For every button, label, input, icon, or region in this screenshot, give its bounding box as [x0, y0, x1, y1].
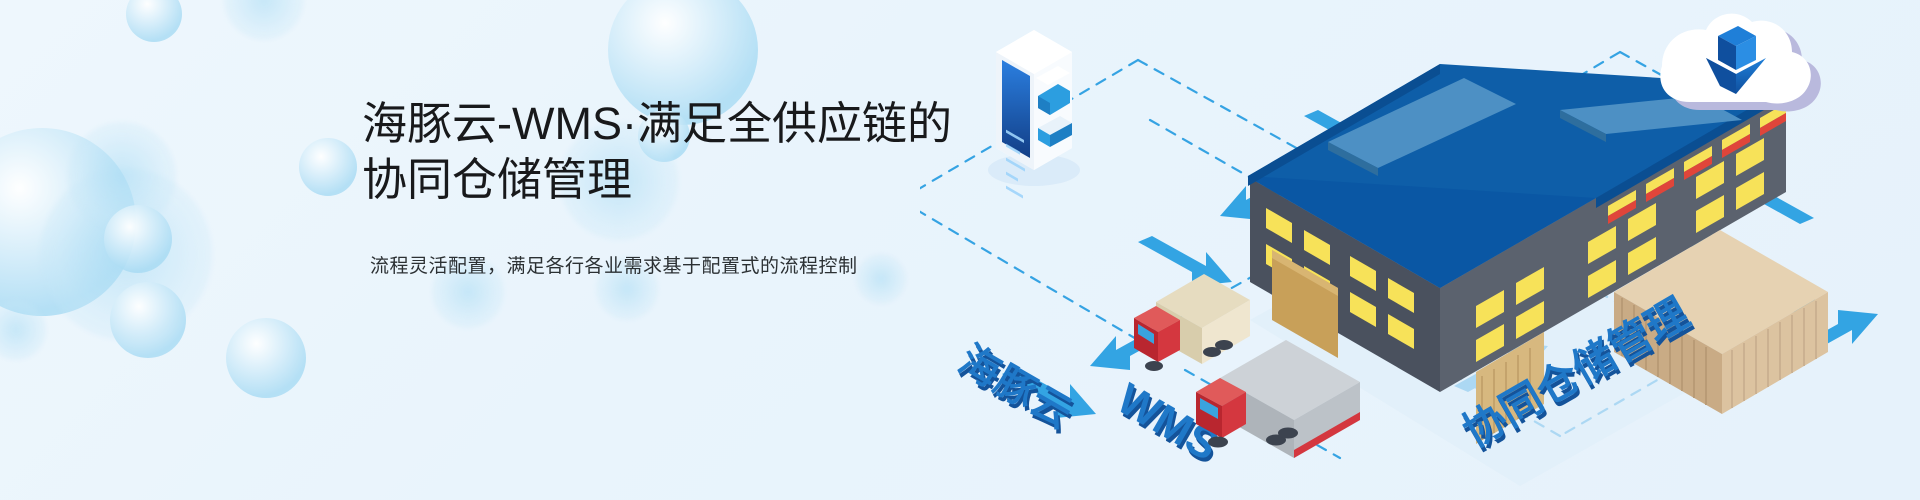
bubble: [104, 205, 172, 273]
arrow-icon: [1138, 236, 1232, 286]
bubble: [0, 300, 46, 360]
cloud-download-icon: [1660, 14, 1821, 112]
bubble: [126, 0, 182, 42]
bubble: [110, 282, 186, 358]
bubble: [226, 318, 306, 398]
bubble: [0, 128, 136, 316]
bubble: [224, 0, 304, 40]
warehouse-illustration: 海豚云 海豚云 WMS WMS: [920, 0, 1920, 500]
hero-banner: 海豚云-WMS·满足全供应链的 协同仓储管理 流程灵活配置，满足各行各业需求基于…: [0, 0, 1920, 500]
bubble: [68, 122, 176, 230]
bubble: [299, 138, 357, 196]
page-title-line-1: 海豚云-WMS·满足全供应链的: [362, 98, 952, 149]
label-left-3d: 海豚云 海豚云 WMS WMS: [952, 338, 1229, 475]
bubble: [40, 168, 212, 340]
server-rack: [988, 30, 1080, 198]
